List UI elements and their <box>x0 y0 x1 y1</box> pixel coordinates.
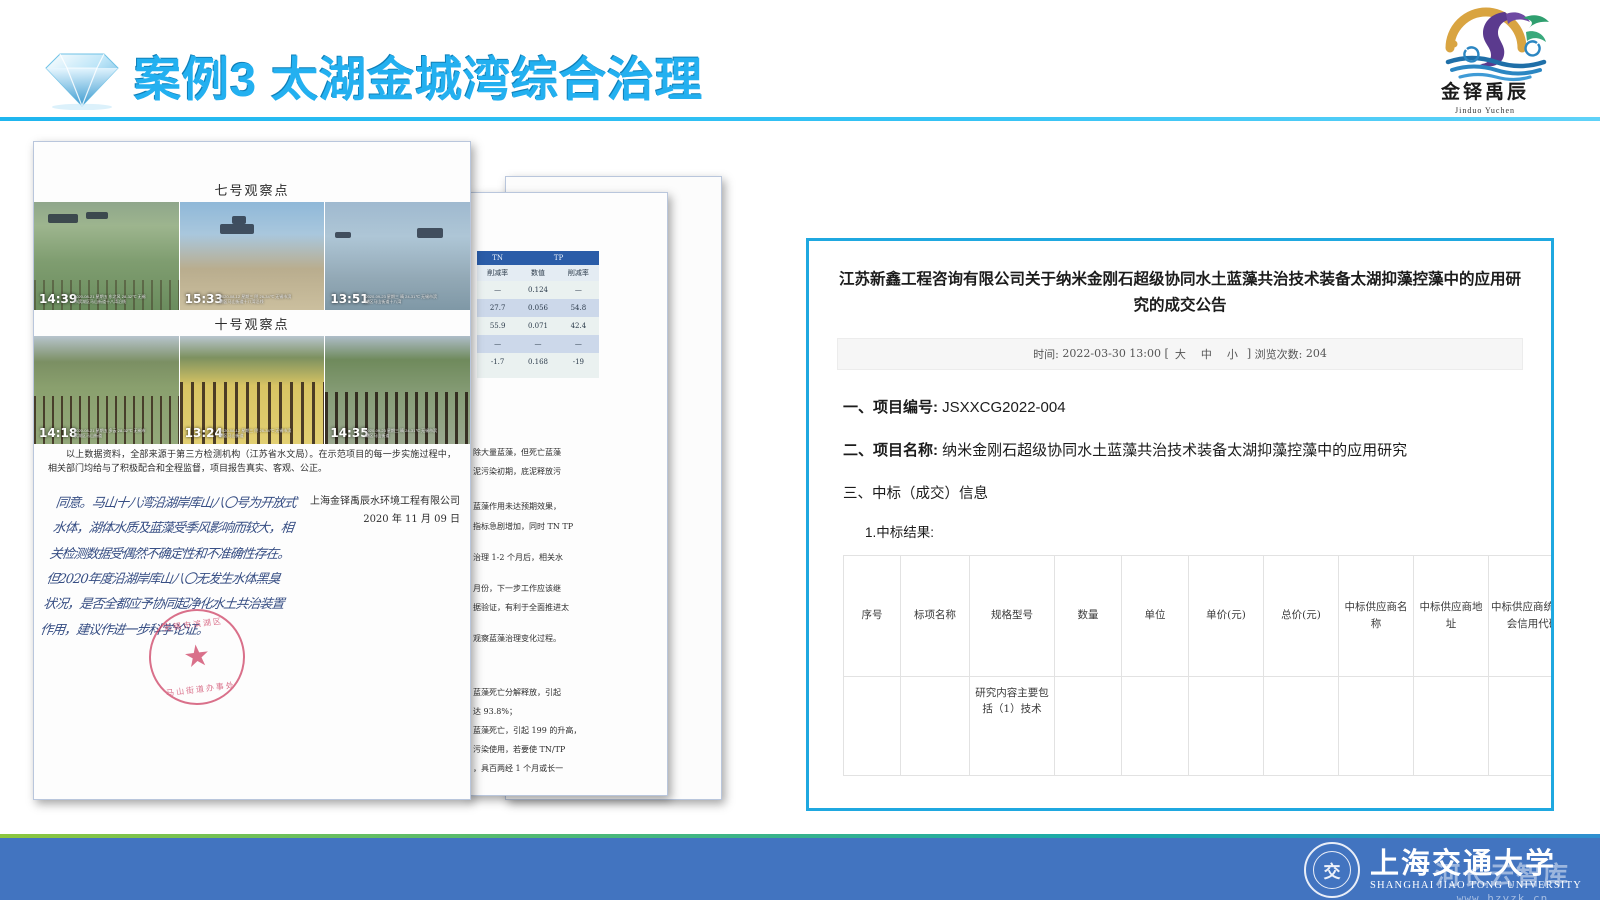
bid-result-section-heading: 三、中标（成交）信息 <box>843 482 1517 503</box>
mid-line-3: 指标急剧增加，同时 TN TP <box>473 517 663 536</box>
cell: — <box>477 335 518 353</box>
time-label: 时间: <box>1033 346 1059 362</box>
observation-photo[interactable]: 13:51 2020-09-23 星期三 晴 24-31℃ 无锡市滨湖区马山街道… <box>325 202 470 310</box>
views-label: 浏览次数: <box>1255 346 1303 362</box>
mid-line-4: 治理 1-2 个月后，相关水 <box>473 548 663 567</box>
header-divider <box>0 117 1600 121</box>
signature-company: 上海金铎禹辰水环境工程有限公司 <box>274 493 460 511</box>
th-spec: 规格型号 <box>970 555 1055 676</box>
title-block: 案例3 太湖金城湾综合治理 <box>40 48 703 110</box>
stamp-bottom-text: 马山街道办事处 <box>155 678 248 700</box>
observation-photo[interactable]: 14:35 2020-09-23 星期三 晴 24-31℃ 无锡市滨湖区马山街道 <box>325 336 470 444</box>
document-middle-page[interactable]: TN TP 削减率 数值 削减率 — 0.124 — <box>466 192 668 796</box>
observation-photo[interactable]: 14:39 2020-08-21 星期五 东北风 28-32℃ 无锡市滨湖区马山… <box>34 202 180 310</box>
cell: 55.9 <box>477 317 518 335</box>
cell: 0.168 <box>518 353 558 371</box>
tn-group-header: TN <box>477 251 518 265</box>
university-name-cn: 上海交通大学 <box>1370 849 1582 879</box>
project-name-key: 二、项目名称: <box>843 442 938 459</box>
td-price <box>1189 676 1264 775</box>
bid-result-table: 序号 标项名称 规格型号 数量 单位 单价(元) 总价(元) 中标供应商名称 中… <box>843 555 1554 776</box>
page-title: 案例3 太湖金城湾综合治理 <box>134 56 703 103</box>
photo-meta: 2020-09-23 星期三 晴 24-31℃ 无锡市滨湖区马山街道十八湾 <box>365 294 439 304</box>
td-total <box>1264 676 1339 775</box>
photo-timestamp: 14:35 <box>330 426 368 440</box>
document-body-text: 以上数据资料，全部来源于第三方检测机构（江苏省水文局）。在示范项目的每一步实施过… <box>34 449 470 477</box>
table-row: 55.9 0.071 42.4 <box>477 317 599 335</box>
table-row: -1.7 0.168 -19 <box>477 353 599 371</box>
dragon-wave-logo-icon <box>1410 4 1560 88</box>
document-front-page[interactable]: 七号观察点 14:39 2020-08-21 星期五 东北风 28-32℃ 无锡… <box>33 141 471 800</box>
mid-line-8: 蓝藻死亡分解释放，引起 <box>473 683 663 702</box>
slide-canvas: 案例3 太湖金城湾综合治理 金铎禹辰 Jinduo Yuchen <box>0 0 1600 900</box>
project-name-value: 纳米金刚石超级协同水土蓝藻共治技术装备太湖抑藻控藻中的应用研究 <box>942 442 1407 459</box>
td-qty <box>1055 676 1122 775</box>
th-total: 总价(元) <box>1264 555 1339 676</box>
announcement-body: 一、项目编号: JSXXCG2022-004 二、项目名称: 纳米金刚石超级协同… <box>843 396 1517 541</box>
diamond-icon <box>40 48 124 110</box>
cell: — <box>558 335 599 353</box>
observation-photo[interactable]: 14:18 2020-08-21 星期五 多云 28-32℃ 无锡市滨湖区马山街… <box>34 336 180 444</box>
photo-timestamp: 14:39 <box>39 292 77 306</box>
procurement-announcement-panel[interactable]: 江苏新鑫工程咨询有限公司关于纳米金刚石超级协同水土蓝藻共治技术装备太湖抑藻控藻中… <box>806 238 1554 811</box>
th-seq: 序号 <box>844 555 901 676</box>
td-credit <box>1489 676 1555 775</box>
table-row: 研究内容主要包括（1）技术 <box>844 676 1555 775</box>
project-number-key: 一、项目编号: <box>843 399 938 416</box>
th-supplier: 中标供应商名称 <box>1339 555 1414 676</box>
signature-date: 2020 年 11 月 09 日 <box>274 511 460 529</box>
photo-meta: 2020-08-12 星期三 阴 26-34℃ 无锡市滨湖区马山街道十八湾沿线 <box>220 294 294 304</box>
university-name-en: SHANGHAI JIAO TONG UNIVERSITY <box>1370 880 1582 891</box>
mid-line-10: 蓝藻死亡，引起 199 的升高， <box>473 721 663 740</box>
td-seq <box>844 676 901 775</box>
photo-meta: 2020-09-23 星期三 晴 24-31℃ 无锡市滨湖区马山街道 <box>365 428 439 438</box>
cell: 27.7 <box>477 299 518 317</box>
cell: — <box>477 281 518 299</box>
stamp-star-icon: ★ <box>182 640 212 673</box>
announcement-meta-bar: 时间: 2022-03-30 13:00 [ 大 中 小 ] 浏览次数: 204 <box>837 338 1523 370</box>
cell: 42.4 <box>558 317 599 335</box>
photo-group-caption-2: 十号观察点 <box>34 314 470 333</box>
td-spec: 研究内容主要包括（1）技术 <box>970 676 1055 775</box>
project-name-line: 二、项目名称: 纳米金刚石超级协同水土蓝藻共治技术装备太湖抑藻控藻中的应用研究 <box>843 439 1517 460</box>
cell: — <box>518 335 558 353</box>
font-size-medium[interactable]: 中 <box>1201 346 1215 362</box>
brand-logo: 金铎禹辰 Jinduo Yuchen <box>1410 4 1560 116</box>
observation-photo[interactable]: 15:33 2020-08-12 星期三 阴 26-34℃ 无锡市滨湖区马山街道… <box>180 202 326 310</box>
brand-name: 金铎禹辰 <box>1410 77 1560 104</box>
font-size-bracket-open: [ <box>1165 347 1169 360</box>
cell: — <box>558 281 599 299</box>
project-number-line: 一、项目编号: JSXXCG2022-004 <box>843 396 1517 417</box>
font-size-bracket-close: ] <box>1247 347 1251 360</box>
photo-row-1: 14:39 2020-08-21 星期五 东北风 28-32℃ 无锡市滨湖区马山… <box>34 202 470 310</box>
photo-timestamp: 13:51 <box>330 292 368 306</box>
seal-glyph: 交 <box>1323 858 1340 883</box>
sjtu-seal-icon: 交 <box>1304 842 1360 898</box>
font-size-large[interactable]: 大 <box>1175 346 1189 362</box>
cell: 0.056 <box>518 299 558 317</box>
mid-line-9: 达 93.8%； <box>473 702 663 721</box>
observation-photo[interactable]: 13:24 2020-08-12 星期三 阴 26-34℃ 无锡市滨湖区马山街道 <box>180 336 326 444</box>
slide-header: 案例3 太湖金城湾综合治理 金铎禹辰 Jinduo Yuchen <box>0 0 1600 122</box>
table-row: — — — <box>477 335 599 353</box>
photo-meta: 2020-08-21 星期五 东北风 28-32℃ 无锡市滨湖区马山街道十八湾沿… <box>74 294 148 304</box>
project-number-value: JSXXCG2022-004 <box>942 399 1065 416</box>
photo-timestamp: 14:18 <box>39 426 77 440</box>
signature-block: 上海金铎禹辰水环境工程有限公司 2020 年 11 月 09 日 <box>274 493 460 529</box>
cell: -19 <box>558 353 599 371</box>
middle-page-text: 除大量蓝藻，但死亡蓝藻 泥污染初期，底泥释放污 蓝藻作用未达预期效果， 指标急剧… <box>473 443 663 778</box>
th-address: 中标供应商地址 <box>1414 555 1489 676</box>
cell: 54.8 <box>558 299 599 317</box>
th-unit: 单位 <box>1122 555 1189 676</box>
announcement-title: 江苏新鑫工程咨询有限公司关于纳米金刚石超级协同水土蓝藻共治技术装备太湖抑藻控藻中… <box>839 267 1521 320</box>
th-qty: 数量 <box>1055 555 1122 676</box>
tp-group-header: TP <box>518 251 599 265</box>
tn-sub-header: 削减率 <box>477 265 518 281</box>
table-row: 27.7 0.056 54.8 <box>477 299 599 317</box>
td-unit <box>1122 676 1189 775</box>
cell: -1.7 <box>477 353 518 371</box>
th-price: 单价(元) <box>1189 555 1264 676</box>
cell: 0.071 <box>518 317 558 335</box>
mid-line-11: 污染使用，若要使 TN/TP <box>473 740 663 759</box>
cell: 0.124 <box>518 281 558 299</box>
table-header-row: 序号 标项名称 规格型号 数量 单位 单价(元) 总价(元) 中标供应商名称 中… <box>844 555 1555 676</box>
mid-line-5: 月份，下一步工作应该继 <box>473 579 663 598</box>
bid-result-subheading: 1.中标结果: <box>865 521 1517 541</box>
photo-timestamp: 15:33 <box>185 292 223 306</box>
university-logo: 交 上海交通大学 SHANGHAI JIAO TONG UNIVERSITY <box>1304 842 1582 898</box>
photo-row-2: 14:18 2020-08-21 星期五 多云 28-32℃ 无锡市滨湖区马山街… <box>34 336 470 444</box>
university-name-block: 上海交通大学 SHANGHAI JIAO TONG UNIVERSITY <box>1370 849 1582 890</box>
font-size-small[interactable]: 小 <box>1227 346 1241 362</box>
th-item: 标项名称 <box>901 555 970 676</box>
td-address <box>1414 676 1489 775</box>
views-value: 204 <box>1306 347 1327 360</box>
photo-meta: 2020-08-21 星期五 多云 28-32℃ 无锡市滨湖区马山街道 <box>74 428 148 438</box>
photo-group-caption-1: 七号观察点 <box>34 180 470 199</box>
mid-line-1: 泥污染初期，底泥释放污 <box>473 462 663 481</box>
mid-line-0: 除大量蓝藻，但死亡蓝藻 <box>473 443 663 462</box>
brand-pinyin: Jinduo Yuchen <box>1410 106 1560 115</box>
photo-meta: 2020-08-12 星期三 阴 26-34℃ 无锡市滨湖区马山街道 <box>220 428 294 438</box>
table-row: — 0.124 — <box>477 281 599 299</box>
th-credit: 中标供应商统一社会信用代码 <box>1489 555 1555 676</box>
mid-line-2: 蓝藻作用未达预期效果， <box>473 497 663 516</box>
tp-value-header: 数值 <box>518 265 558 281</box>
handwritten-approval-area: 同意。马山十八湾沿湖岸库山八〇号为开放式水体，湖体水质及蓝藻受季风影响而较大，相… <box>34 491 470 701</box>
td-item <box>901 676 970 775</box>
tn-tp-data-table: TN TP 削减率 数值 削减率 — 0.124 — <box>477 251 599 378</box>
tp-rate-header: 削减率 <box>558 265 599 281</box>
mid-line-12: ，具百两经 1 个月或长一 <box>473 759 663 778</box>
mid-line-6: 据验证，有利于全面推进太 <box>473 598 663 617</box>
photo-timestamp: 13:24 <box>185 426 223 440</box>
time-value: 2022-03-30 13:00 <box>1062 347 1161 360</box>
source-paragraph: 以上数据资料，全部来源于第三方检测机构（江苏省水文局）。在示范项目的每一步实施过… <box>48 449 456 477</box>
mid-line-7: 观察蓝藻治理变化过程。 <box>473 629 663 648</box>
td-supplier <box>1339 676 1414 775</box>
